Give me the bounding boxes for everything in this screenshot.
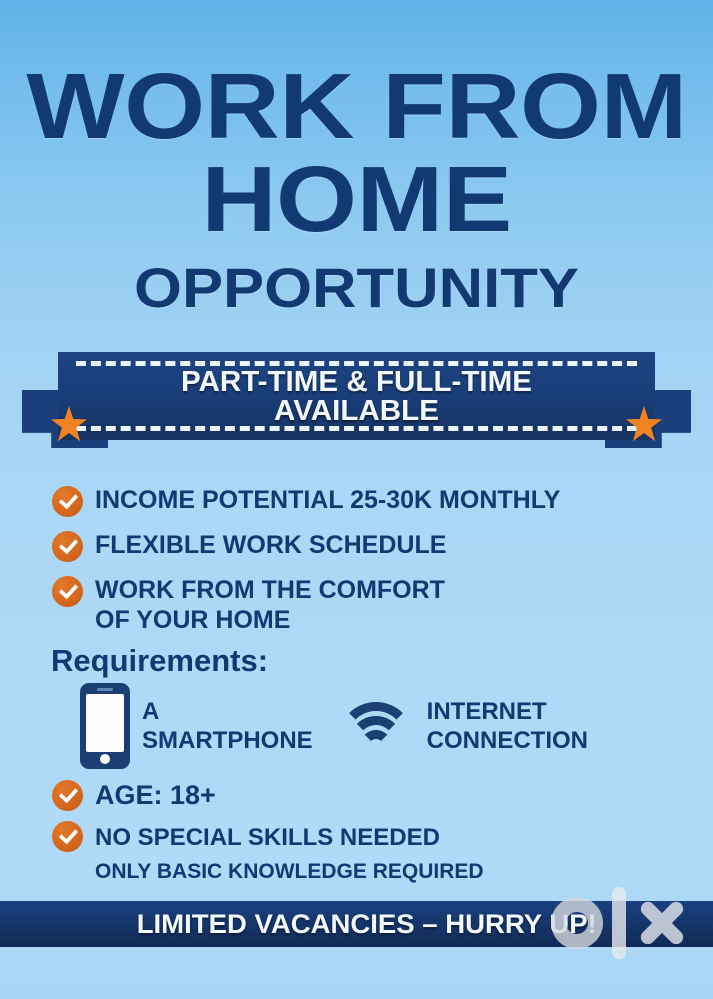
criteria-label-2-line-2: ONLY BASIC KNOWLEDGE REQUIRED — [95, 856, 484, 888]
check-circle-icon — [52, 486, 83, 517]
check-circle-icon — [52, 576, 83, 607]
requirements-title: Requirements: — [51, 643, 268, 679]
benefit-item-3: WORK FROM THE COMFORT OF YOUR HOME — [52, 575, 445, 635]
work-from-home-poster: WORK FROM HOME OPPORTUNITY PART-TIME & F… — [0, 0, 713, 999]
criteria-label-2: NO SPECIAL SKILLS NEEDED ONLY BASIC KNOW… — [95, 820, 484, 888]
watermark-letter-x — [635, 896, 689, 950]
smartphone-speaker — [97, 688, 113, 691]
requirement-smartphone-line-2: SMARTPHONE — [142, 726, 313, 755]
wifi-icon — [337, 698, 415, 754]
requirement-internet-line-2: CONNECTION — [427, 726, 588, 755]
criteria-label-1: AGE: 18+ — [95, 779, 216, 811]
benefit-label-3-line-2: OF YOUR HOME — [95, 605, 445, 635]
check-circle-icon — [52, 780, 83, 811]
benefit-label-1: INCOME POTENTIAL 25-30K MONTHLY — [95, 485, 560, 515]
ribbon-text: PART-TIME & FULL-TIME AVAILABLE — [52, 368, 661, 426]
wifi-arc-inner — [360, 730, 392, 762]
requirement-label-smartphone: A SMARTPHONE — [142, 697, 313, 756]
benefit-item-2: FLEXIBLE WORK SCHEDULE — [52, 530, 446, 562]
requirements-row: A SMARTPHONE INTERNET CONNECTION — [80, 683, 588, 769]
criteria-label-2-line-1: NO SPECIAL SKILLS NEEDED — [95, 824, 440, 851]
criteria-item-2: NO SPECIAL SKILLS NEEDED ONLY BASIC KNOW… — [52, 820, 484, 888]
smartphone-screen — [86, 694, 124, 752]
olx-watermark: olx.in — [551, 884, 701, 962]
criteria-item-1: AGE: 18+ — [52, 779, 216, 811]
footer-text: LIMITED VACANCIES – HURRY UP! — [116, 909, 596, 940]
watermark-subtext: olx.in — [619, 948, 646, 958]
check-circle-icon — [52, 821, 83, 852]
benefit-item-1: INCOME POTENTIAL 25-30K MONTHLY — [52, 485, 560, 517]
headline-line-1: WORK FROM — [0, 67, 713, 147]
smartphone-home-button — [100, 754, 110, 764]
ribbon-text-line-1: PART-TIME & FULL-TIME — [52, 368, 661, 397]
smartphone-icon — [80, 683, 130, 769]
ribbon-body: PART-TIME & FULL-TIME AVAILABLE — [58, 352, 655, 440]
benefit-label-3-line-1: WORK FROM THE COMFORT — [95, 576, 445, 604]
headline-line-3: OPPORTUNITY — [0, 264, 713, 312]
ribbon-text-line-2: AVAILABLE — [52, 397, 661, 426]
requirement-label-internet: INTERNET CONNECTION — [427, 697, 588, 756]
check-circle-icon — [52, 531, 83, 562]
benefit-label-2: FLEXIBLE WORK SCHEDULE — [95, 530, 446, 560]
availability-ribbon: PART-TIME & FULL-TIME AVAILABLE — [0, 352, 713, 452]
benefit-label-3: WORK FROM THE COMFORT OF YOUR HOME — [95, 575, 445, 635]
requirement-internet-line-1: INTERNET — [427, 697, 588, 726]
requirement-smartphone-line-1: A — [142, 697, 313, 726]
watermark-letter-o — [551, 897, 603, 949]
headline-line-2: HOME — [0, 160, 713, 240]
